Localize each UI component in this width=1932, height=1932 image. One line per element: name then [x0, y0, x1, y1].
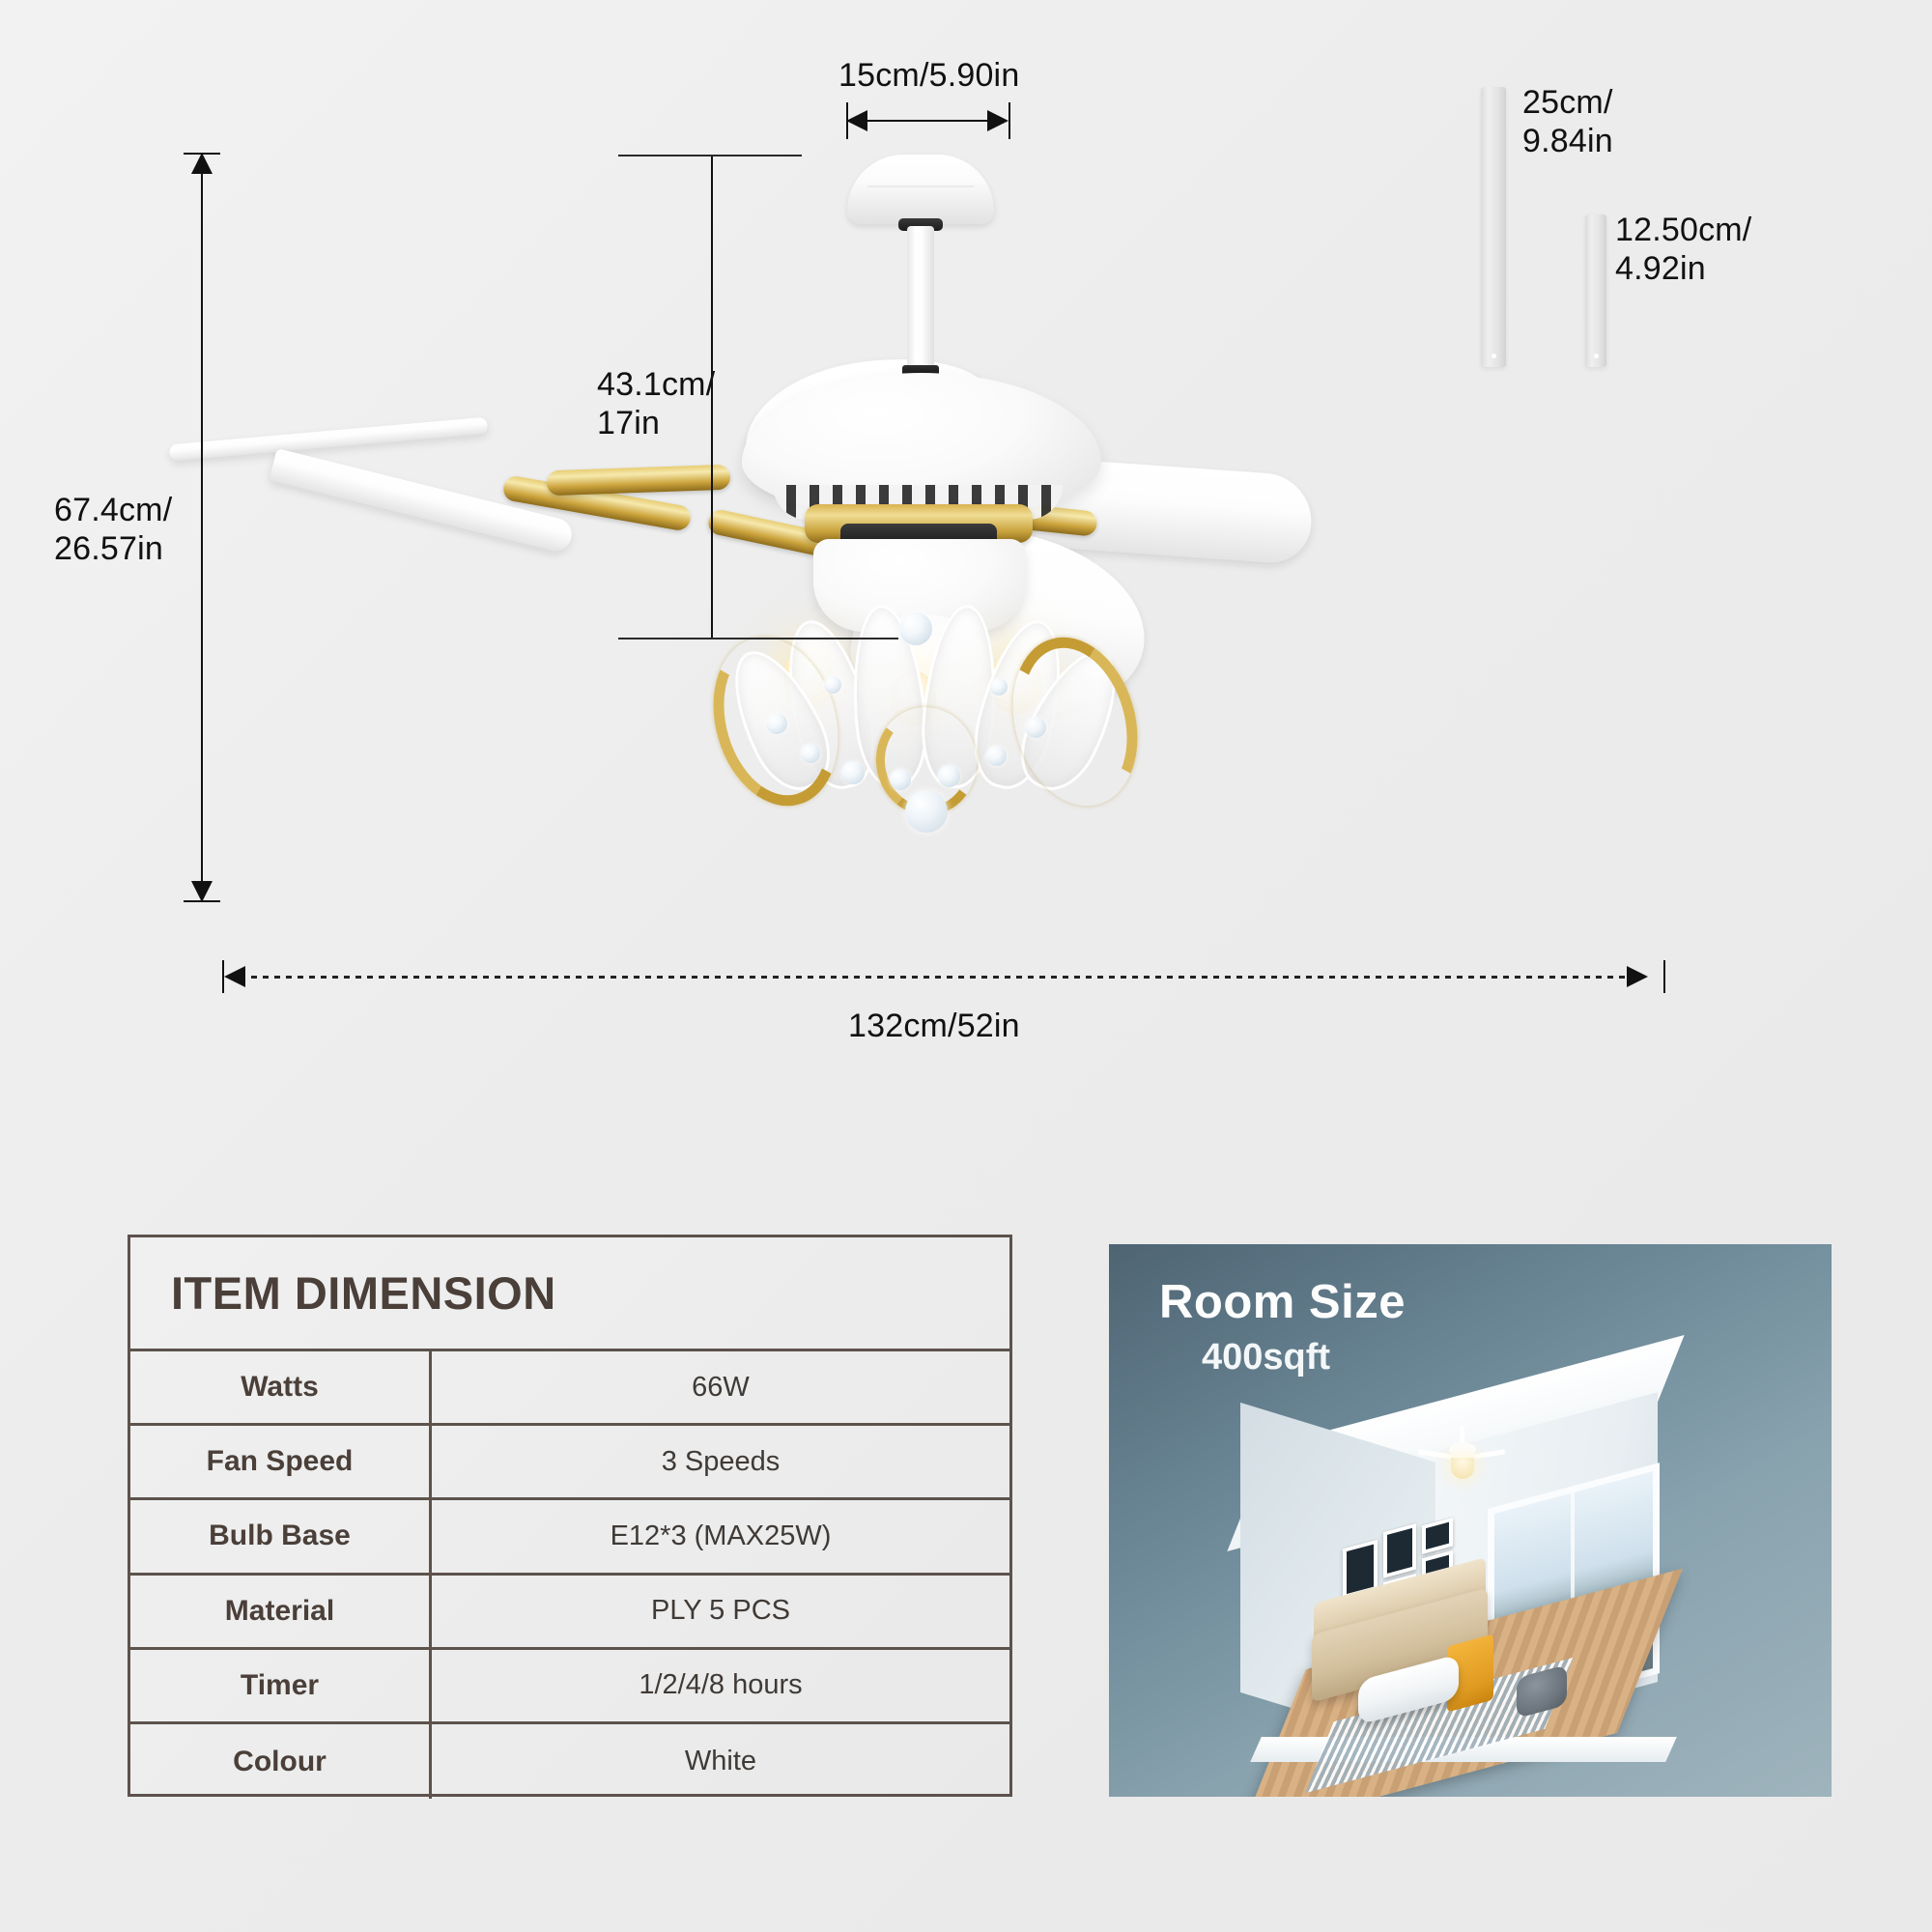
total-height-line: [201, 166, 203, 893]
blade-span-arrow-right: [1627, 966, 1648, 987]
crystal-bead-8: [824, 676, 841, 694]
spec-value: 3 Speeds: [432, 1426, 1009, 1497]
blade-short-label: 12.50cm/ 4.92in: [1615, 211, 1751, 288]
drop-height-ext-bottom: [618, 638, 898, 639]
product-spec-sheet: 25cm/ 9.84in 12.50cm/ 4.92in 15cm/5.90in…: [0, 0, 1932, 1932]
canopy-width-arrow-right: [987, 110, 1009, 131]
canopy-width-label: 15cm/5.90in: [838, 56, 1019, 95]
isometric-room-scene: [1198, 1381, 1777, 1787]
crystal-light-kit: [700, 562, 1154, 842]
canopy-width-line: [856, 120, 1001, 122]
blade-span-tick-left: [222, 960, 224, 993]
canopy-width-tick-right: [1009, 102, 1010, 139]
spec-key: Bulb Base: [130, 1500, 432, 1572]
table-row: Colour White: [130, 1724, 1009, 1799]
total-height-label: 67.4cm/ 26.57in: [54, 491, 172, 568]
crystal-bead-2: [801, 744, 820, 763]
spec-key: Colour: [130, 1724, 432, 1799]
room-size-panel: Room Size 400sqft: [1109, 1244, 1832, 1797]
spec-value: PLY 5 PCS: [432, 1576, 1009, 1647]
fan-blade-left-far: [169, 417, 488, 462]
spec-key: Material: [130, 1576, 432, 1647]
crystal-bead-6: [986, 746, 1007, 766]
blade-long-label: 25cm/ 9.84in: [1522, 83, 1613, 160]
table-row: Watts 66W: [130, 1351, 1009, 1426]
item-dimension-table: ITEM DIMENSION Watts 66W Fan Speed 3 Spe…: [128, 1235, 1012, 1797]
room-size-title: Room Size: [1159, 1275, 1406, 1329]
canopy-width-tick-left: [846, 102, 848, 139]
blade-span-arrow-left: [224, 966, 245, 987]
crystal-bead-5: [938, 765, 960, 787]
room-fan-hub: [1449, 1442, 1476, 1457]
total-height-tick-top: [184, 153, 220, 155]
total-height-arrow-top: [191, 153, 213, 174]
picture-frame: [1422, 1518, 1453, 1555]
spec-key: Timer: [130, 1650, 432, 1721]
table-row: Fan Speed 3 Speeds: [130, 1426, 1009, 1500]
blade-swatch-long: [1481, 87, 1506, 367]
downrod: [907, 226, 934, 371]
room-ceiling-fan: [1428, 1426, 1495, 1480]
crystal-bead-7: [1025, 717, 1046, 738]
blade-arm-left-upper: [547, 465, 731, 497]
picture-frame: [1383, 1523, 1416, 1578]
crystal-finial-top: [899, 612, 932, 645]
table-row: Timer 1/2/4/8 hours: [130, 1650, 1009, 1724]
total-height-tick-bottom: [184, 900, 220, 902]
spec-key: Fan Speed: [130, 1426, 432, 1497]
crystal-bead-3: [841, 761, 865, 784]
spec-value: White: [432, 1724, 1009, 1799]
crystal-finial-bottom: [905, 790, 948, 833]
blade-span-label: 132cm/52in: [848, 1007, 1020, 1045]
drop-height-label: 43.1cm/ 17in: [597, 365, 715, 442]
table-row: Material PLY 5 PCS: [130, 1576, 1009, 1650]
ceiling-fan-illustration: [319, 145, 1594, 927]
spec-key: Watts: [130, 1351, 432, 1423]
blade-swatch-short: [1585, 214, 1606, 367]
spec-table-title: ITEM DIMENSION: [130, 1237, 1009, 1351]
ceiling-canopy: [847, 155, 994, 224]
drop-height-ext-top: [618, 155, 802, 156]
spec-value: 66W: [432, 1351, 1009, 1423]
crystal-bead-4: [890, 769, 911, 790]
crystal-bead-9: [990, 678, 1008, 696]
blade-span-tick-right: [1663, 960, 1665, 993]
drop-height-line: [711, 155, 713, 639]
crystal-bead-1: [766, 713, 787, 734]
room-size-value: 400sqft: [1202, 1337, 1330, 1378]
spec-value: 1/2/4/8 hours: [432, 1650, 1009, 1721]
room-fan-light: [1451, 1458, 1474, 1479]
blade-span-line: [240, 976, 1627, 979]
table-row: Bulb Base E12*3 (MAX25W): [130, 1500, 1009, 1575]
spec-value: E12*3 (MAX25W): [432, 1500, 1009, 1572]
total-height-arrow-bottom: [191, 881, 213, 902]
canopy-width-arrow-left: [846, 110, 867, 131]
